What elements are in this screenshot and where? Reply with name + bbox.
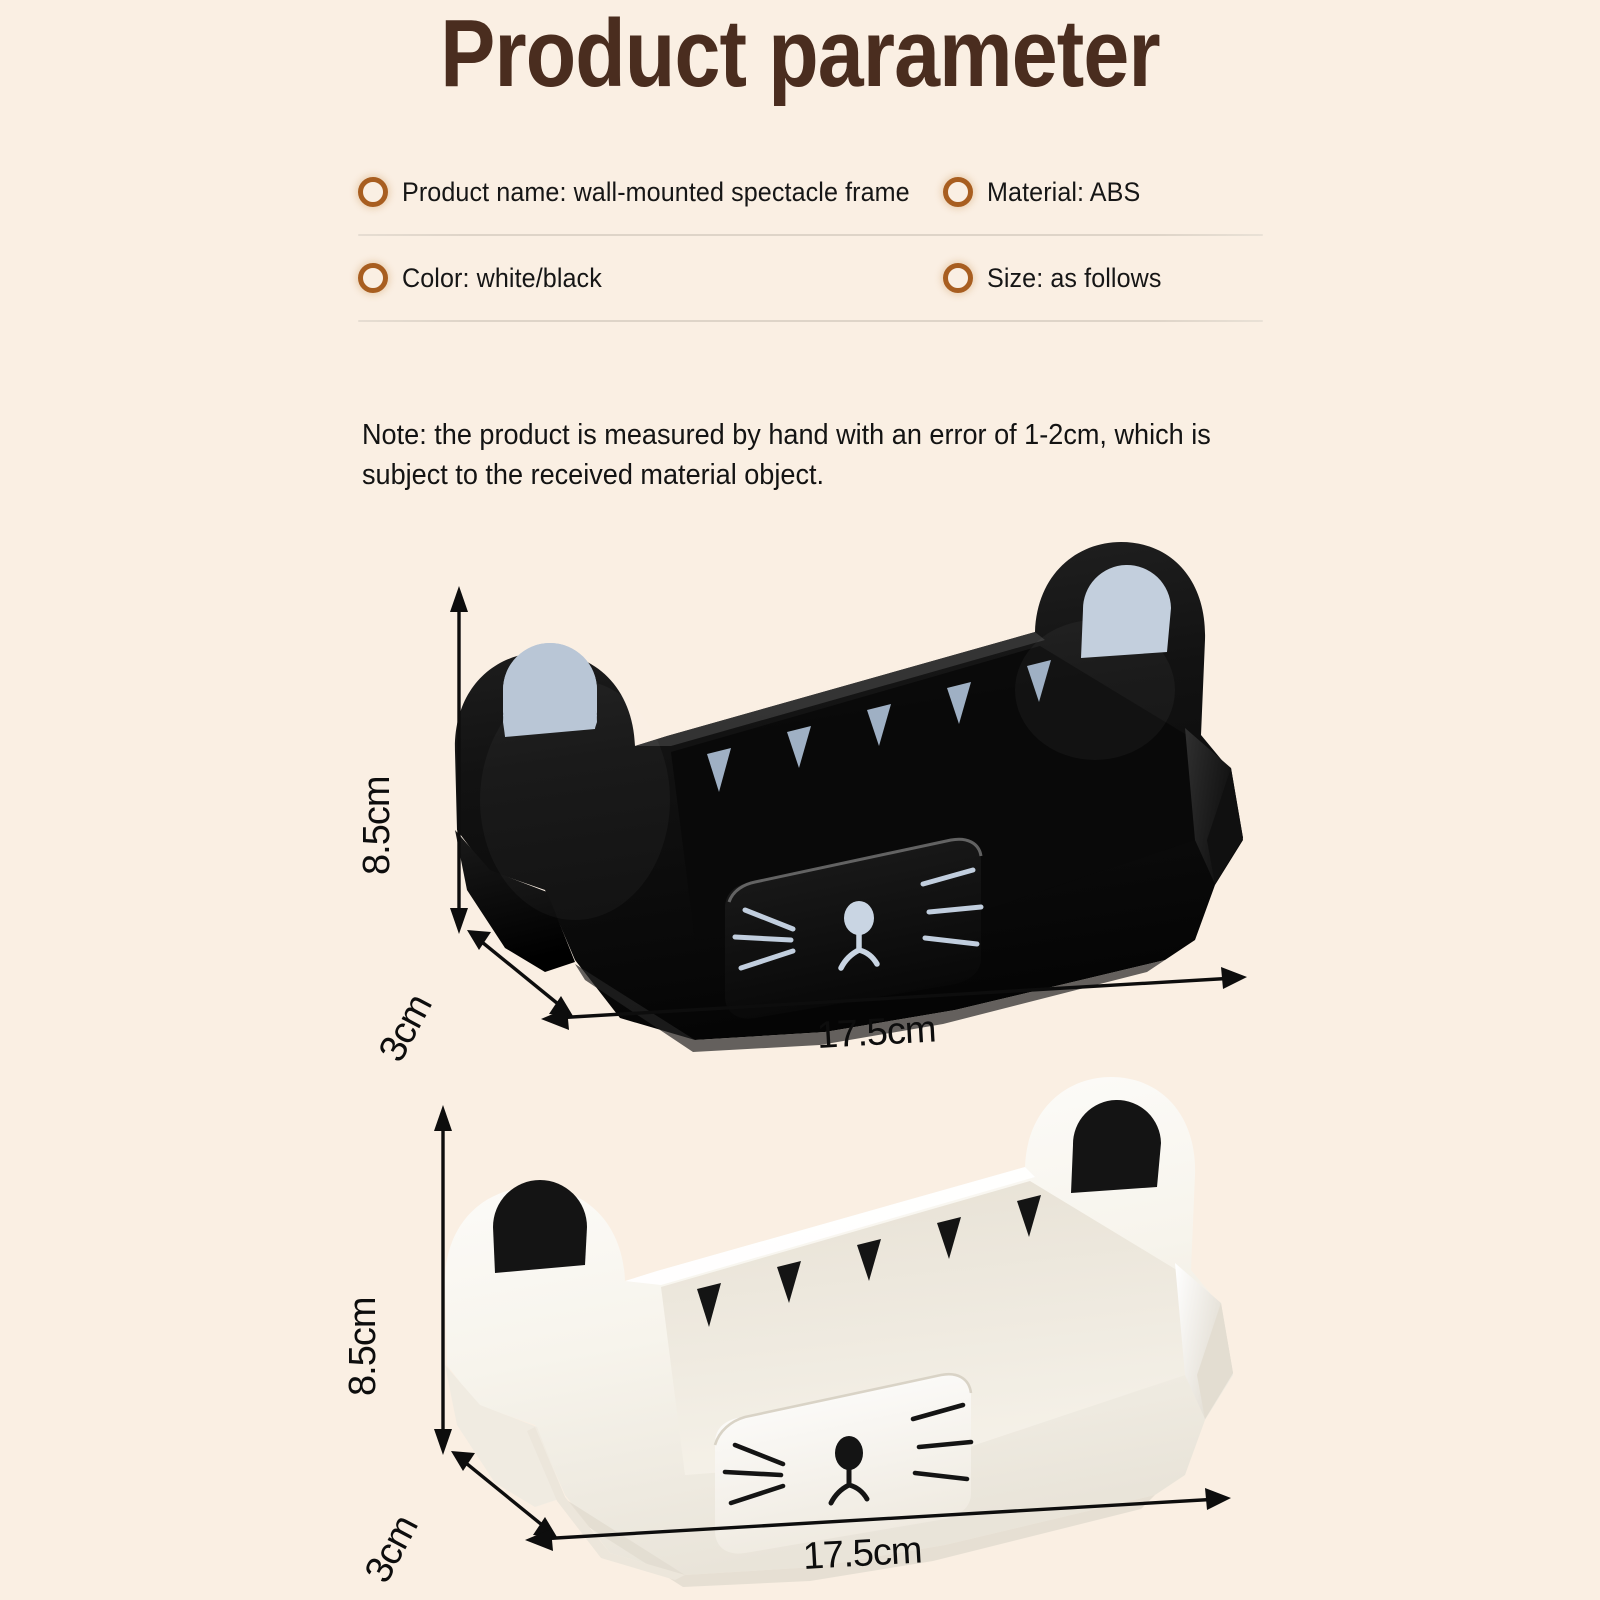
spec-row: Color: white/black Size: as follows [358, 236, 1263, 320]
product-figure-white: 8.5cm 3cm 17.5cm [385, 1075, 1255, 1580]
ring-bullet-icon [358, 177, 388, 207]
spec-label: Size: as follows [987, 263, 1162, 294]
dimension-width-label: 17.5cm [816, 1008, 937, 1058]
spec-row: Product name: wall-mounted spectacle fra… [358, 150, 1263, 234]
spec-item-product-name: Product name: wall-mounted spectacle fra… [358, 177, 943, 208]
spec-list: Product name: wall-mounted spectacle fra… [358, 150, 1263, 322]
ring-bullet-icon [943, 177, 973, 207]
spec-label: Product name: wall-mounted spectacle fra… [402, 177, 910, 208]
ear-inner-left-icon [493, 1180, 587, 1273]
ear-inner-left-icon [503, 643, 597, 737]
dimension-height-label: 8.5cm [356, 777, 399, 875]
product-figure-black: 8.5cm 3cm 17.5cm [395, 540, 1265, 1050]
divider [358, 320, 1263, 322]
measurement-note: Note: the product is measured by hand wi… [362, 415, 1217, 496]
ring-bullet-icon [943, 263, 973, 293]
dimension-height-label: 8.5cm [342, 1298, 385, 1396]
page-title: Product parameter [112, 4, 1488, 105]
spec-item-size: Size: as follows [943, 263, 1175, 294]
spec-label: Color: white/black [402, 263, 602, 294]
ring-bullet-icon [358, 263, 388, 293]
spec-label: Material: ABS [987, 177, 1140, 208]
spec-item-color: Color: white/black [358, 263, 943, 294]
spec-item-material: Material: ABS [943, 177, 1152, 208]
dimension-width-label: 17.5cm [802, 1529, 923, 1579]
